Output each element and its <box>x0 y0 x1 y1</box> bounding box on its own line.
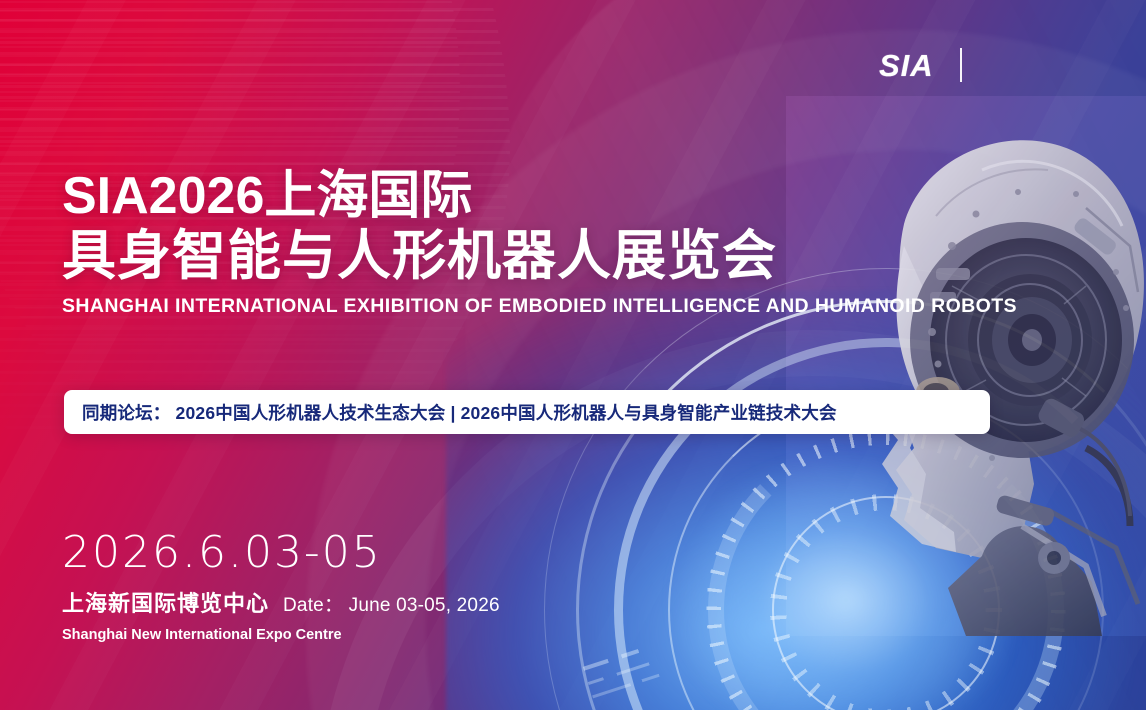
venue-name-en: Shanghai New International Expo Centre <box>62 627 500 643</box>
title-line-1: SIA2026上海国际 <box>62 166 992 226</box>
title-english-subtitle: SHANGHAI INTERNATIONAL EXHIBITION OF EMB… <box>62 295 992 318</box>
venue-name-cn: 上海新国际博览中心 <box>62 586 269 618</box>
sia-logo-mark: SIA <box>879 50 934 81</box>
venue-date-en: Date： June 03-05, 2026 <box>283 590 500 617</box>
title-block: SIA2026上海国际 具身智能与人形机器人展览会 SHANGHAI INTER… <box>62 166 992 318</box>
logo-divider-icon <box>960 48 962 82</box>
concurrent-forum-bar: 同期论坛： 2026中国人形机器人技术生态大会 | 2026中国人形机器人与具身… <box>64 390 990 434</box>
title-line-2: 具身智能与人形机器人展览会 <box>62 226 992 286</box>
concurrent-forum-text: 同期论坛： 2026中国人形机器人技术生态大会 | 2026中国人形机器人与具身… <box>64 400 837 425</box>
event-banner: SIA SIA2026上海国际 具身智能与人形机器人展览会 SHANGHAI I… <box>0 0 1146 710</box>
venue-row: 上海新国际博览中心 Date： June 03-05, 2026 <box>62 586 500 618</box>
event-date-large: 2026.6.03-05 <box>62 527 500 579</box>
date-venue-block: 2026.6.03-05 上海新国际博览中心 Date： June 03-05,… <box>62 527 500 643</box>
sia-logo[interactable]: SIA <box>879 48 962 82</box>
